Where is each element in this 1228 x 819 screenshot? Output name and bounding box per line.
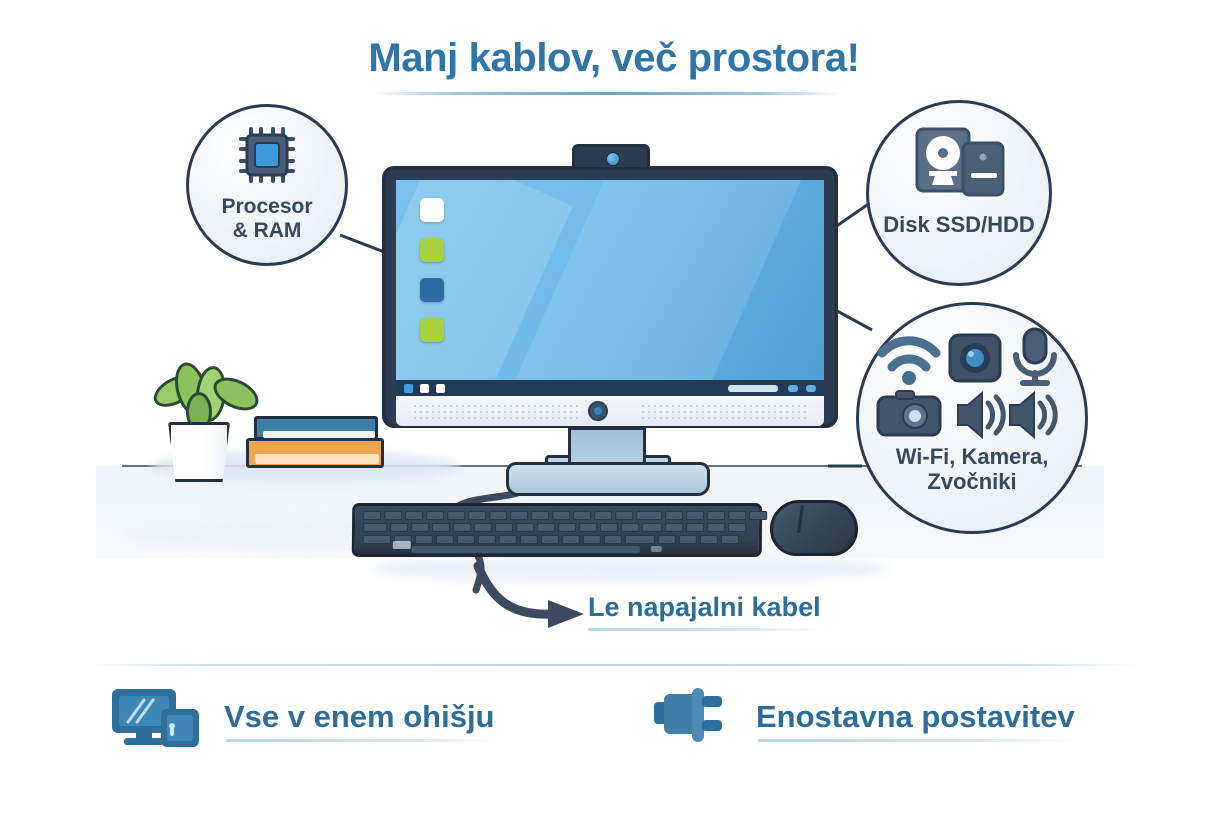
taskbar-tray-icon[interactable] <box>788 385 798 392</box>
hard-disk-icon <box>913 127 1005 203</box>
book-pages <box>263 431 375 438</box>
title-underline <box>374 92 840 95</box>
webcam-icon <box>950 335 1000 381</box>
grille-dots <box>412 403 582 419</box>
taskbar[interactable] <box>396 380 824 396</box>
webcam-lens-icon <box>606 152 620 166</box>
spacebar-key[interactable] <box>411 545 641 554</box>
power-plug-icon <box>650 686 734 748</box>
feature-all-in-one[interactable]: Vse v enem ohišju <box>110 686 495 748</box>
speaker-icon <box>1010 393 1055 437</box>
book-orange <box>246 438 384 468</box>
mouse[interactable] <box>770 500 858 556</box>
keyboard[interactable] <box>352 503 763 557</box>
all-in-one-computer <box>382 166 838 428</box>
callout-cpu-ram-label-line1: Procesor <box>221 195 312 219</box>
microphone-icon <box>1016 329 1054 383</box>
page-title: Manj kablov, več prostora! <box>0 36 1228 81</box>
callout-wireless-label-line2: Zvočniki <box>896 470 1049 495</box>
section-divider <box>88 664 1140 666</box>
monitor-screen <box>396 180 824 380</box>
camera-icon <box>878 391 940 435</box>
cpu-chip-icon <box>235 123 299 187</box>
taskbar-button[interactable] <box>404 384 413 393</box>
wireless-peripherals-icons <box>874 323 1070 439</box>
desktop-icon[interactable] <box>420 318 444 342</box>
wifi-dot <box>902 371 916 385</box>
keyboard-key-highlight <box>393 541 411 549</box>
callout-disk[interactable]: Disk SSD/HDD <box>866 100 1052 286</box>
monitor-stand-base <box>506 462 710 496</box>
callout-wireless-label-line1: Wi-Fi, Kamera, <box>896 445 1049 470</box>
callout-wireless[interactable]: Wi-Fi, Kamera, Zvočniki <box>856 302 1088 534</box>
callout-cpu-ram-label-line2: & RAM <box>221 219 312 243</box>
speaker-icon <box>958 393 1003 437</box>
feature-all-in-one-label: Vse v enem ohišju <box>224 699 495 735</box>
mouse-button-divider <box>797 505 804 533</box>
grille-dots <box>640 403 810 419</box>
book-blue <box>254 416 378 440</box>
desktop-icon[interactable] <box>420 238 444 262</box>
plant-pot <box>168 422 230 482</box>
desktop-icon[interactable] <box>420 278 444 302</box>
infographic-canvas: Manj kablov, več prostora! <box>0 0 1228 819</box>
taskbar-tray-icon[interactable] <box>806 385 816 392</box>
taskbar-tray-pill[interactable] <box>728 385 778 392</box>
webcam-module <box>572 144 650 170</box>
callout-cpu-ram[interactable]: Procesor & RAM <box>186 104 348 266</box>
power-led <box>594 407 602 415</box>
monitor-tablet-icon <box>110 686 202 748</box>
keyboard-shadow <box>370 556 890 582</box>
feature-easy-setup-label: Enostavna postavitev <box>756 699 1075 735</box>
desktop-icon[interactable] <box>420 198 444 222</box>
feature-easy-setup[interactable]: Enostavna postavitev <box>650 686 1075 748</box>
cable-note-label: Le napajalni kabel <box>588 592 821 623</box>
book-pages <box>255 454 379 464</box>
power-button[interactable] <box>588 401 608 421</box>
callout-disk-label: Disk SSD/HDD <box>883 213 1035 238</box>
wifi-icon <box>882 341 936 367</box>
taskbar-button[interactable] <box>420 384 429 393</box>
speaker-grille <box>396 396 824 426</box>
keyboard-indicator-led <box>651 546 662 552</box>
taskbar-button[interactable] <box>436 384 445 393</box>
